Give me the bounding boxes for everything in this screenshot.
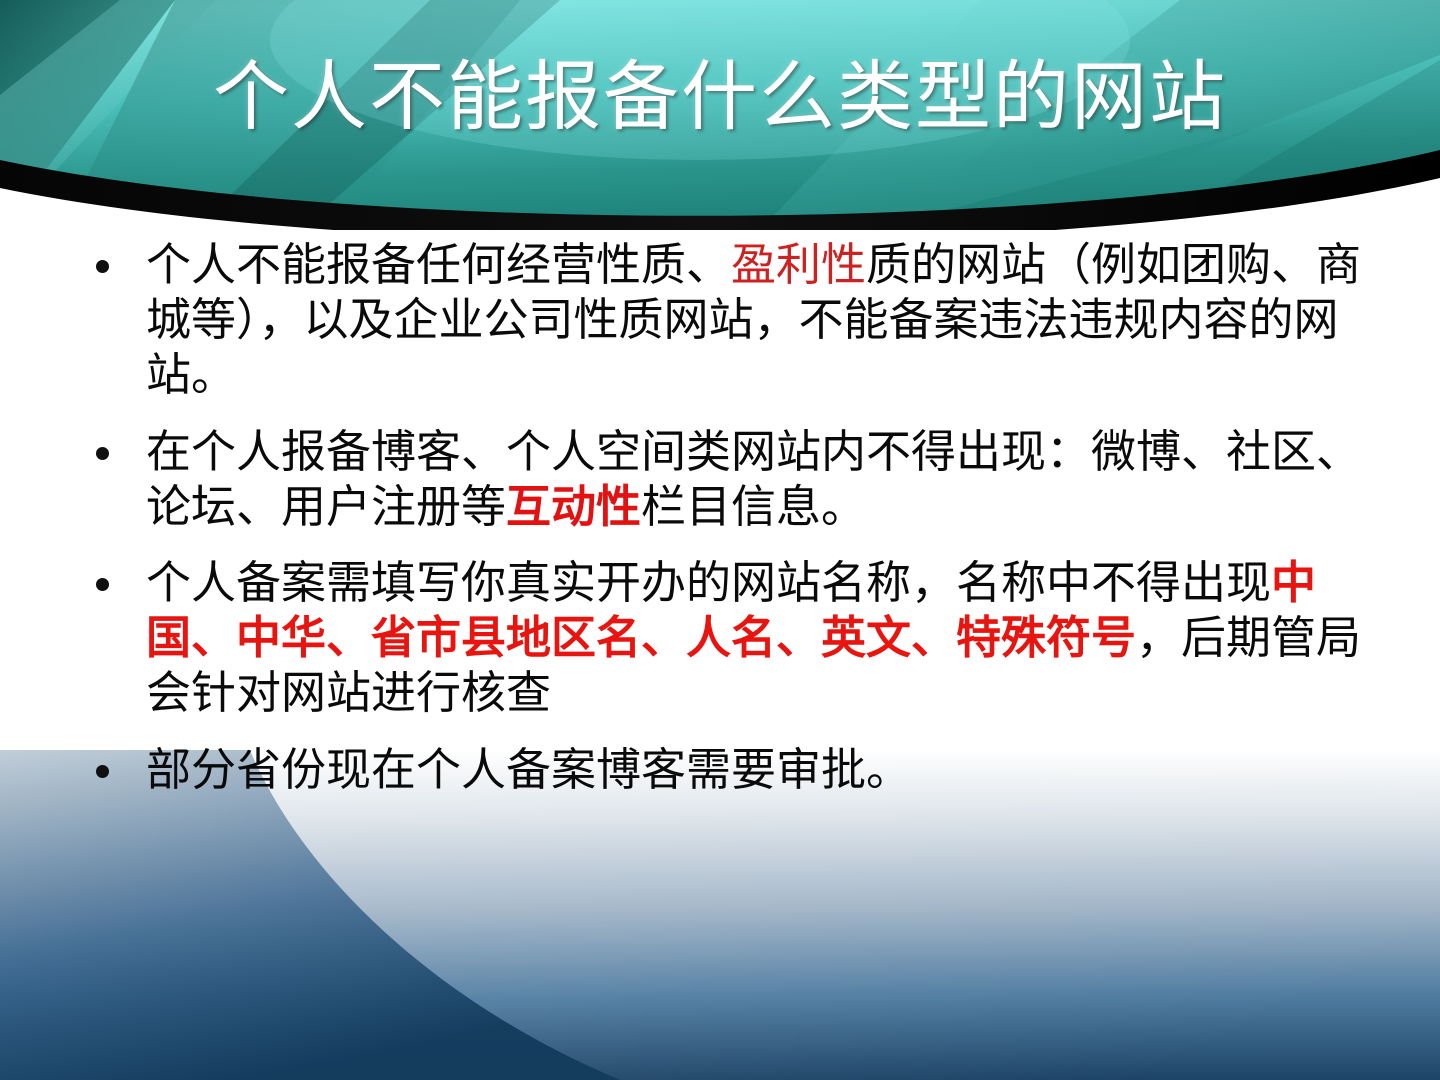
list-item: 部分省份现在个人备案博客需要审批。 bbox=[78, 743, 1400, 798]
header-banner-svg bbox=[0, 0, 1440, 230]
bottom-decoration-svg bbox=[0, 750, 1440, 1080]
bullet-text: 在个人报备博客、个人空间类网站内不得出现：微博、社区、论坛、用户注册等互动性栏目… bbox=[146, 425, 1361, 533]
bullet-segment: 部分省份现在个人备案博客需要审批。 bbox=[146, 743, 911, 796]
bullet-segment: 个人备案需填写你真实开办的网站名称，名称中不得出现 bbox=[146, 556, 1271, 609]
bullet-dot-icon bbox=[96, 578, 109, 591]
slide-header-banner bbox=[0, 0, 1440, 230]
list-item: 在个人报备博客、个人空间类网站内不得出现：微博、社区、论坛、用户注册等互动性栏目… bbox=[78, 425, 1400, 535]
bullet-segment: 个人不能报备任何经营性质、 bbox=[146, 238, 731, 291]
bullet-text: 部分省份现在个人备案博客需要审批。 bbox=[146, 743, 911, 796]
bullet-dot-icon bbox=[96, 765, 109, 778]
bullet-segment-highlight: 互动性 bbox=[506, 480, 641, 533]
presentation-slide: 个人不能报备什么类型的网站 个人不能报备任何经营性质、盈利性质的网站（例如团购、… bbox=[0, 0, 1440, 1080]
bullet-segment-highlight: 盈利性 bbox=[731, 238, 866, 291]
bottom-decoration bbox=[0, 750, 1440, 1080]
bullet-segment: 栏目信息。 bbox=[641, 480, 866, 533]
list-item: 个人备案需填写你真实开办的网站名称，名称中不得出现中国、中华、省市县地区名、人名… bbox=[78, 556, 1400, 721]
slide-body: 个人不能报备任何经营性质、盈利性质的网站（例如团购、商城等），以及企业公司性质网… bbox=[0, 238, 1440, 798]
list-item: 个人不能报备任何经营性质、盈利性质的网站（例如团购、商城等），以及企业公司性质网… bbox=[78, 238, 1400, 403]
bullet-list: 个人不能报备任何经营性质、盈利性质的网站（例如团购、商城等），以及企业公司性质网… bbox=[0, 238, 1440, 798]
bullet-text: 个人不能报备任何经营性质、盈利性质的网站（例如团购、商城等），以及企业公司性质网… bbox=[146, 238, 1361, 401]
bullet-dot-icon bbox=[96, 260, 109, 273]
bullet-dot-icon bbox=[96, 447, 109, 460]
bullet-text: 个人备案需填写你真实开办的网站名称，名称中不得出现中国、中华、省市县地区名、人名… bbox=[146, 556, 1361, 719]
